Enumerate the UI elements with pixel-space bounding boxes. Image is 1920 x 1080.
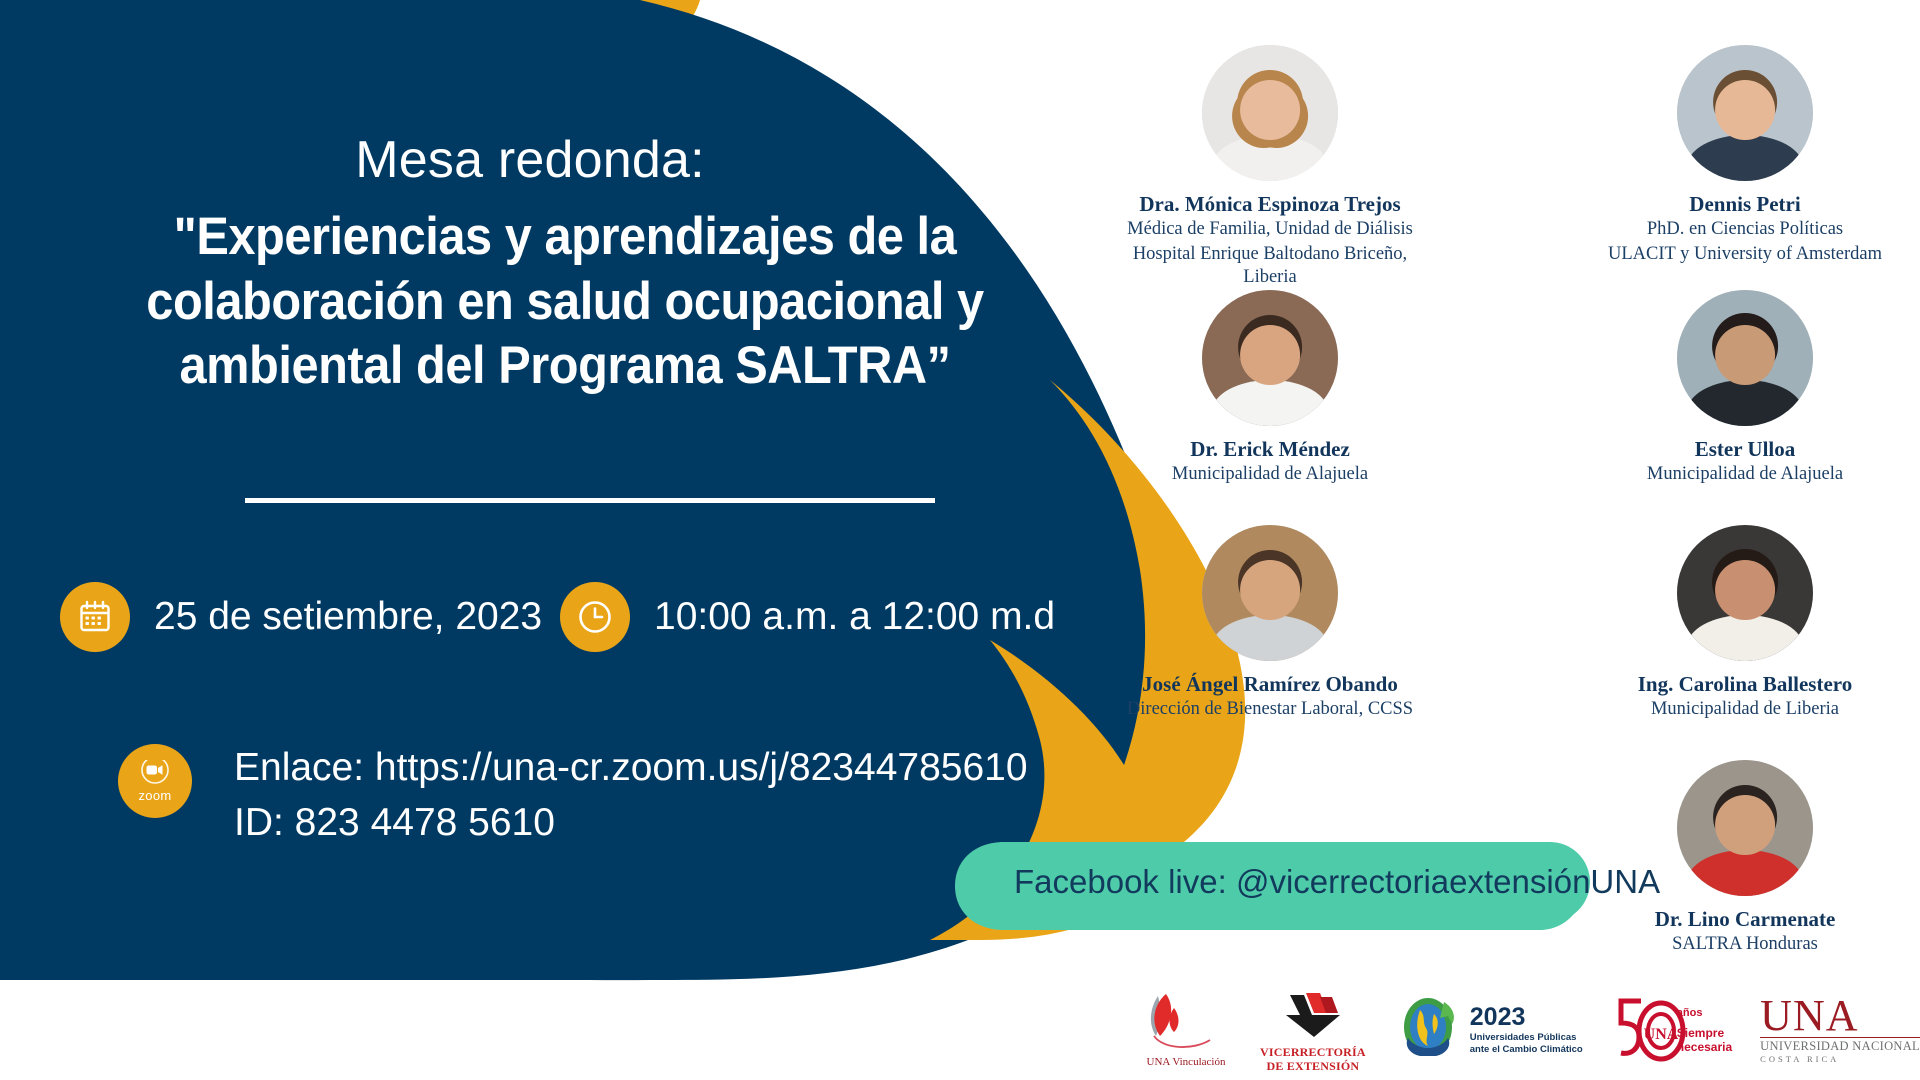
speaker-card: Dra. Mónica Espinoza Trejos Médica de Fa… (1105, 45, 1435, 290)
speaker-affiliation-line1: Dirección de Bienestar Laboral, CCSS (1105, 698, 1435, 721)
avatar (1202, 45, 1338, 181)
kicker-text: Mesa redonda: (0, 130, 1060, 190)
facebook-live-text: Facebook live: @vicerrectoriaextensiónUN… (1014, 863, 1660, 901)
una-universidad-nacional-logo: UNA UNIVERSIDAD NACIONAL COSTA RICA (1760, 996, 1920, 1064)
speaker-name: Dennis Petri (1580, 192, 1910, 216)
divider-rule (245, 498, 935, 503)
una-vinculacion-mark (1140, 992, 1232, 1054)
speaker-card: Ing. Carolina Ballestero Municipalidad d… (1580, 525, 1910, 721)
speaker-card: José Ángel Ramírez Obando Dirección de B… (1105, 525, 1435, 721)
globe-hands-icon (1394, 994, 1466, 1066)
zoom-camera-icon: zoom (118, 744, 192, 818)
event-date-text: 25 de setiembre, 2023 (154, 595, 542, 639)
vicerrectoria-mark (1270, 987, 1356, 1043)
una-vinculacion-line1: UNA (1147, 1056, 1170, 1068)
vicerrectoria-extension-logo: VICERRECTORÍA DE EXTENSIÓN (1260, 987, 1366, 1072)
speaker-card: Ester Ulloa Municipalidad de Alajuela (1580, 290, 1910, 486)
una-50-line3: necesaria (1677, 1040, 1732, 1054)
event-time-text: 10:00 a.m. a 12:00 m.d (654, 595, 1055, 639)
speaker-card: Dr. Lino Carmenate SALTRA Honduras (1580, 760, 1910, 956)
event-time-row: 10:00 a.m. a 12:00 m.d (560, 582, 1055, 652)
avatar (1677, 760, 1813, 896)
speaker-affiliation-line1: Municipalidad de Alajuela (1105, 463, 1435, 486)
una-wordmark: UNA (1760, 996, 1858, 1036)
page-title: "Experiencias y aprendizajes de la colab… (100, 205, 1029, 399)
avatar (1677, 290, 1813, 426)
speaker-affiliation-line2: Hospital Enrique Baltodano Briceño, Libe… (1105, 243, 1435, 289)
speaker-card: Dennis Petri PhD. en Ciencias Políticas … (1580, 45, 1910, 266)
zoom-info-block: zoom Enlace: https://una-cr.zoom.us/j/82… (118, 740, 1028, 851)
facebook-live-band: Facebook live: @vicerrectoriaextensiónUN… (1000, 842, 1590, 922)
una-vinculacion-logo: UNA Vinculación (1140, 992, 1232, 1068)
left-content-column: Mesa redonda: "Experiencias y aprendizaj… (0, 0, 1160, 980)
una-50-center-mark: UNA (1643, 1026, 1678, 1043)
avatar (1202, 525, 1338, 661)
event-poster: Mesa redonda: "Experiencias y aprendizaj… (0, 0, 1920, 1080)
vicerrectoria-line2: DE EXTENSIÓN (1260, 1060, 1366, 1073)
zoom-text-lines: Enlace: https://una-cr.zoom.us/j/8234478… (234, 740, 1028, 851)
una-50-anios-logo: UNA años Siempre necesaria (1611, 993, 1732, 1067)
speaker-name: Dr. Lino Carmenate (1580, 907, 1910, 931)
avatar (1202, 290, 1338, 426)
costa-rica-text: COSTA RICA (1760, 1054, 1839, 1064)
speaker-affiliation-line1: Médica de Familia, Unidad de Diálisis (1105, 218, 1435, 241)
vicerrectoria-line1: VICERRECTORÍA (1260, 1046, 1366, 1059)
universidades-line2: ante el Cambio Climático (1470, 1044, 1583, 1055)
avatar (1677, 525, 1813, 661)
universidades-line1: Universidades Públicas (1470, 1032, 1583, 1043)
una-vinculacion-line2: Vinculación (1172, 1056, 1225, 1068)
una-50-line1: años (1677, 1007, 1732, 1019)
zoom-icon-label: zoom (139, 788, 172, 803)
universidades-year: 2023 (1470, 1005, 1583, 1030)
footer-logos: UNA Vinculación VICERRECTORÍA DE EXTENSI… (1140, 980, 1920, 1080)
speaker-card: Dr. Erick Méndez Municipalidad de Alajue… (1105, 290, 1435, 486)
event-date-row: 25 de setiembre, 2023 (60, 582, 542, 652)
speaker-affiliation-line1: PhD. en Ciencias Políticas (1580, 218, 1910, 241)
speaker-name: Ester Ulloa (1580, 437, 1910, 461)
zoom-id-text: ID: 823 4478 5610 (234, 795, 1028, 850)
clock-icon (560, 582, 630, 652)
speaker-name: Ing. Carolina Ballestero (1580, 672, 1910, 696)
speaker-affiliation-line2: ULACIT y University of Amsterdam (1580, 243, 1910, 266)
speaker-affiliation-line1: SALTRA Honduras (1580, 933, 1910, 956)
speaker-affiliation-line1: Municipalidad de Liberia (1580, 698, 1910, 721)
speaker-name: José Ángel Ramírez Obando (1105, 672, 1435, 696)
calendar-icon (60, 582, 130, 652)
universidad-nacional-text: UNIVERSIDAD NACIONAL (1760, 1037, 1920, 1054)
speaker-name: Dra. Mónica Espinoza Trejos (1105, 192, 1435, 216)
zoom-link-text[interactable]: Enlace: https://una-cr.zoom.us/j/8234478… (234, 740, 1028, 795)
speaker-affiliation-line1: Municipalidad de Alajuela (1580, 463, 1910, 486)
speaker-name: Dr. Erick Méndez (1105, 437, 1435, 461)
avatar (1677, 45, 1813, 181)
una-50-line2: Siempre (1677, 1026, 1732, 1040)
universidades-cambio-climatico-logo: 2023 Universidades Públicas ante el Camb… (1394, 994, 1583, 1066)
